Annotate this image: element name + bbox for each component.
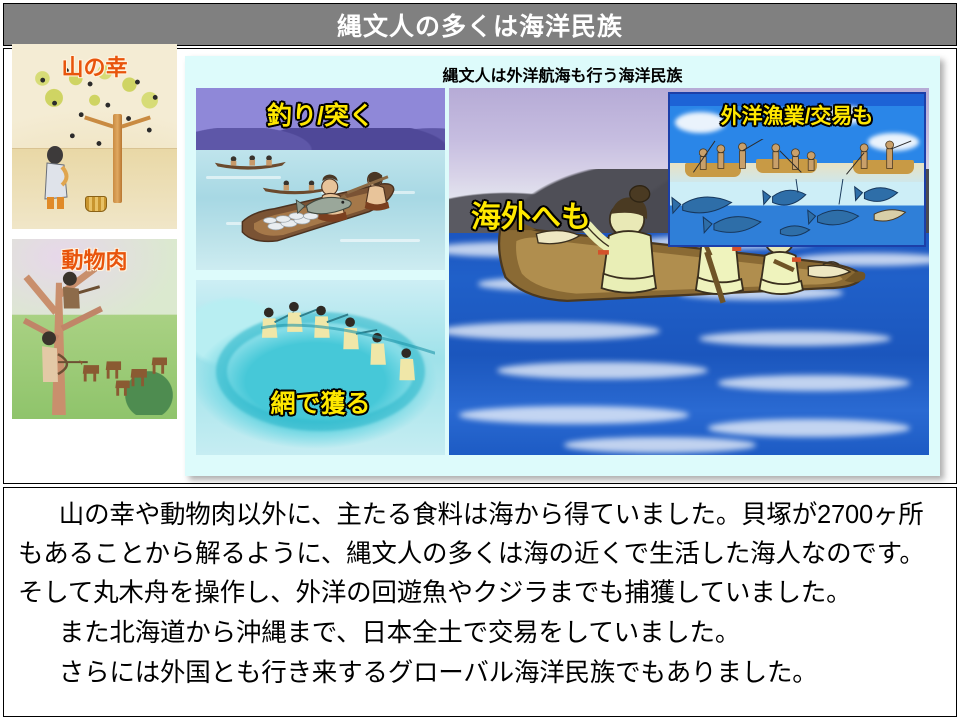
slide-root: 縄文人の多くは海洋民族 山の幸: [0, 0, 960, 720]
ocean-panel: 縄文人は外洋航海も行う海洋民族: [185, 56, 940, 476]
image-netting: 網で獲る: [196, 280, 445, 455]
body-paragraph-3: さらには外国とも行き来するグローバル海洋民族でもありました。: [18, 654, 940, 693]
page-title: 縄文人の多くは海洋民族: [337, 7, 623, 43]
image-animal-meat: 動物肉: [12, 239, 177, 419]
caption-deepsea: 外洋漁業/交易も: [670, 100, 924, 130]
caption-animal-meat: 動物肉: [12, 243, 177, 275]
image-deepsea-fishing: 外洋漁業/交易も: [668, 92, 926, 247]
image-fishing-spearing: 釣り/突く: [196, 88, 445, 270]
caption-mountain-bounty: 山の幸: [12, 50, 177, 82]
basket-shape: [85, 196, 107, 212]
left-image-column: 山の幸: [12, 44, 177, 419]
body-text-box: 山の幸や動物肉以外に、主たる食料は海から得ていました。貝塚が2700ヶ所もあるこ…: [3, 487, 957, 717]
panel-title: 縄文人は外洋航海も行う海洋民族: [185, 62, 940, 86]
ground-shape: [12, 148, 177, 229]
caption-fishing: 釣り/突く: [196, 96, 445, 132]
inset-fishers-icon: [680, 139, 919, 178]
image-mountain-bounty: 山の幸: [12, 44, 177, 229]
gatherer-figure-icon: [38, 145, 72, 211]
net-pullers-icon: [261, 298, 435, 389]
caption-overseas: 海外へも: [471, 192, 591, 236]
deer-herd-icon: [78, 333, 174, 405]
fishing-canoe-icon: [211, 168, 425, 248]
body-paragraph-1: 山の幸や動物肉以外に、主たる食料は海から得ていました。貝塚が2700ヶ所もあるこ…: [18, 496, 940, 613]
body-paragraph-2: また北海道から沖縄まで、日本全土で交易をしていました。: [18, 614, 940, 653]
slide-header: 縄文人の多くは海洋民族: [3, 3, 957, 46]
inset-tuna-icon: [670, 179, 924, 245]
caption-netting: 網で獲る: [196, 384, 445, 420]
